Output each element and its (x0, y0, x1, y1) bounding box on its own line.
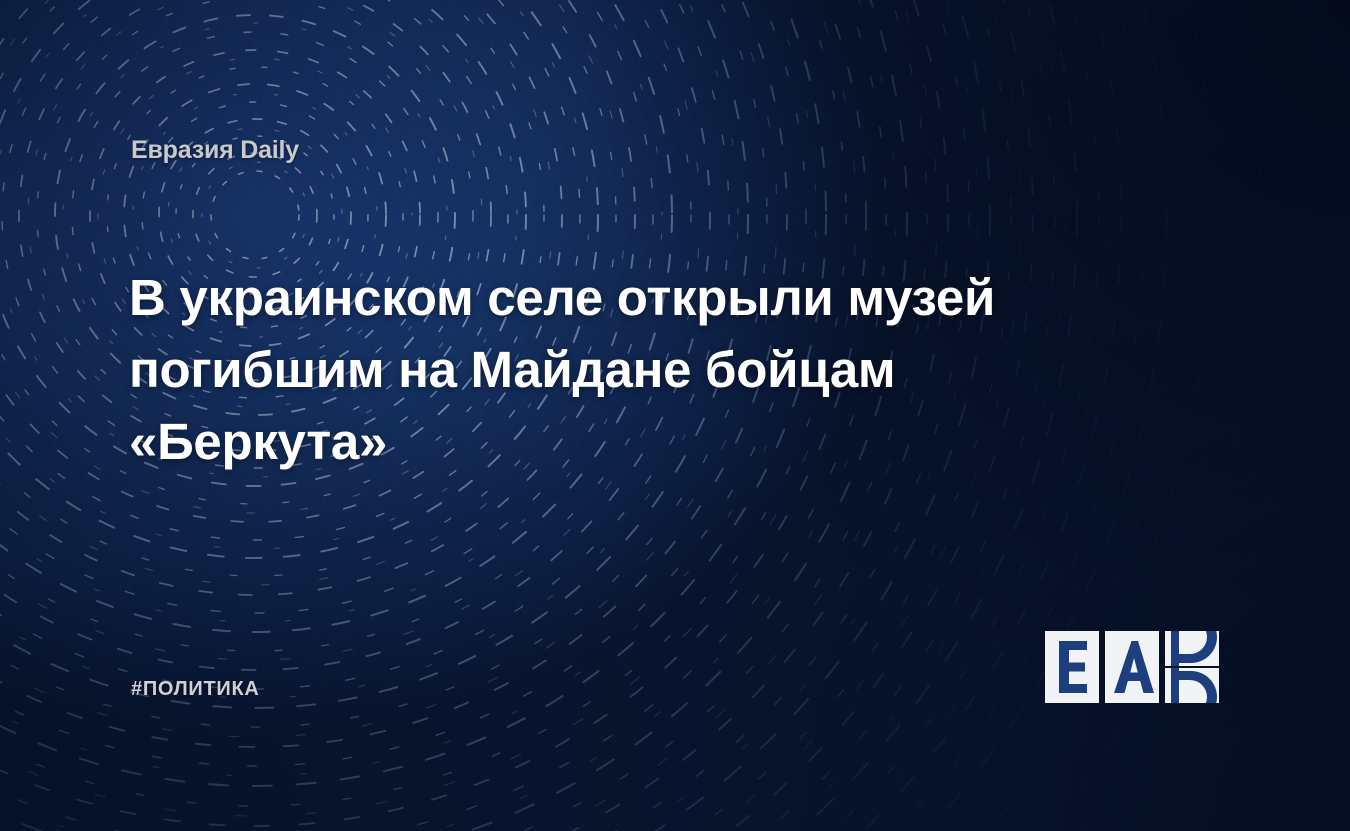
logo-tile-d-bottom (1165, 668, 1219, 703)
eadaily-logo (1045, 631, 1220, 703)
logo-tile-e (1045, 631, 1099, 703)
card-content: Евразия Daily В украинском селе открыли … (0, 0, 1350, 831)
site-brand-name: Евразия Daily (131, 136, 299, 165)
social-share-card: Евразия Daily В украинском селе открыли … (0, 0, 1350, 831)
article-headline: В украинском селе открыли музей погибшим… (129, 262, 1089, 478)
logo-letter-d-top-icon (1165, 631, 1219, 666)
logo-tile-d-top (1165, 631, 1219, 666)
logo-letter-a-icon (1105, 631, 1159, 703)
logo-letter-d-bottom-icon (1165, 668, 1219, 703)
logo-letter-e-icon (1045, 631, 1099, 703)
logo-tile-d (1165, 631, 1219, 703)
category-tag: #ПОЛИТИКА (131, 678, 260, 701)
logo-tile-a (1105, 631, 1159, 703)
